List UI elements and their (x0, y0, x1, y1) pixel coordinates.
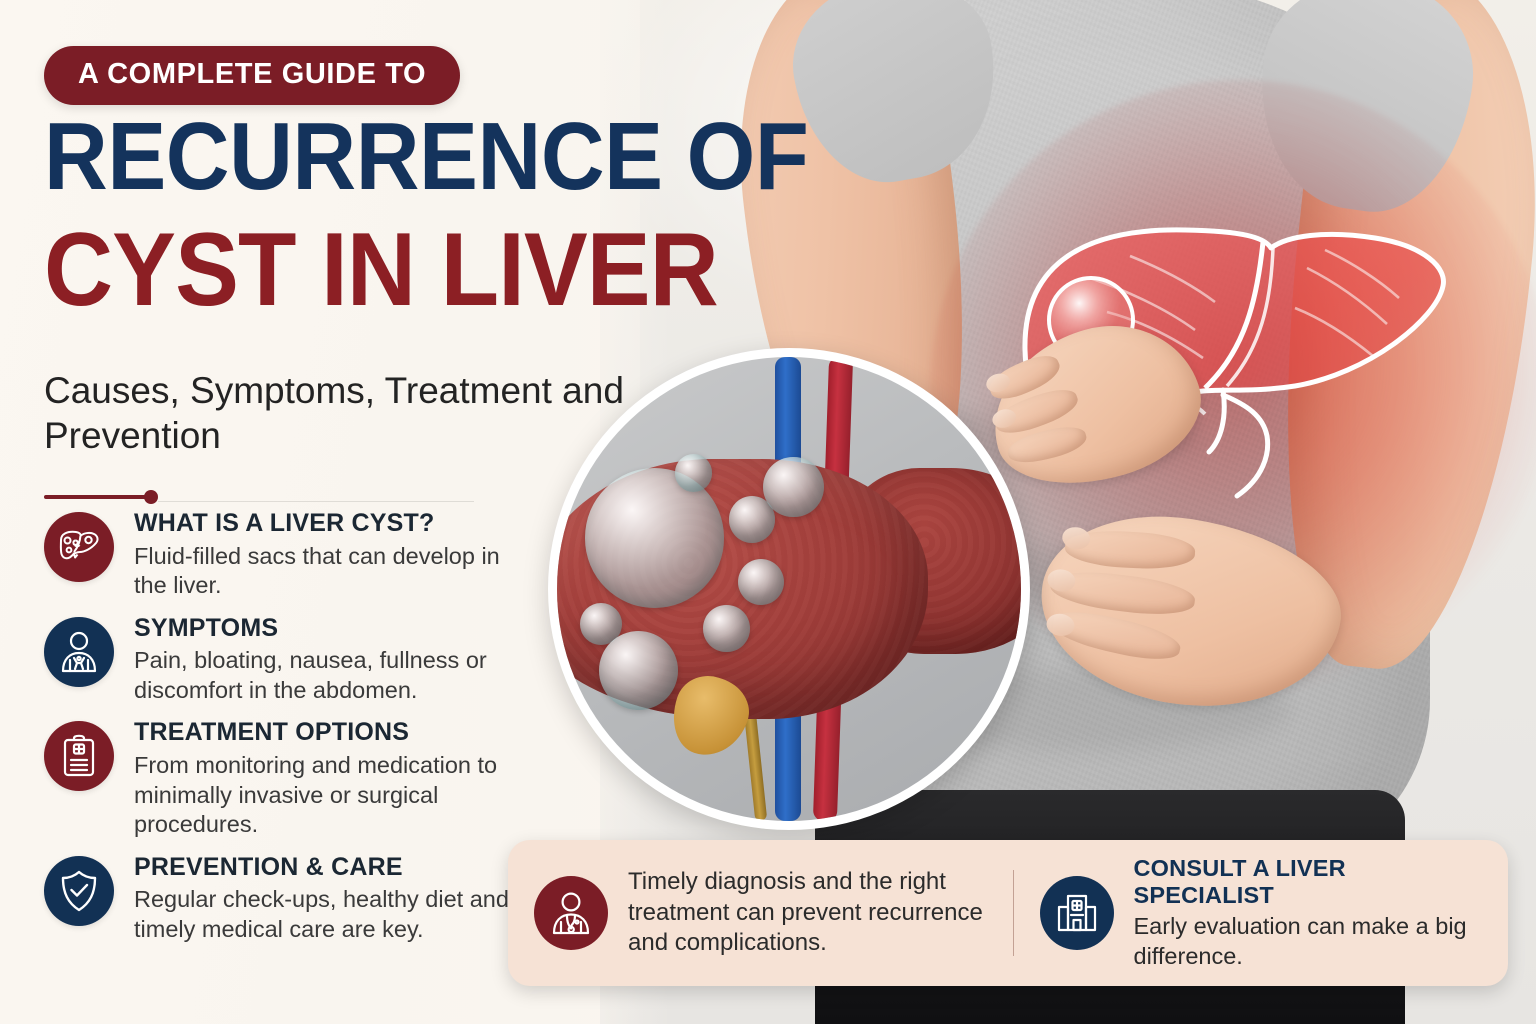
doctor-stethoscope-icon (534, 876, 608, 950)
list-item-title: TREATMENT OPTIONS (134, 719, 514, 747)
banner-left-cell: Timely diagnosis and the right treatment… (508, 867, 1013, 959)
cyst-medium (763, 457, 823, 517)
list-item-text: WHAT IS A LIVER CYST? Fluid-filled sacs … (134, 508, 514, 601)
liver-anatomy-image (557, 357, 1021, 821)
page-subtitle: Causes, Symptoms, Treatment and Preventi… (44, 368, 624, 458)
list-item-desc: Regular check-ups, healthy diet and time… (134, 885, 514, 944)
list-item: TREATMENT OPTIONS From monitoring and me… (44, 717, 514, 839)
page-title-line1: RECURRENCE OF (44, 112, 808, 202)
bottom-banner: Timely diagnosis and the right treatment… (508, 840, 1508, 986)
list-item-title: PREVENTION & CARE (134, 854, 514, 882)
banner-right-text: CONSULT A LIVER SPECIALIST Early evaluat… (1134, 855, 1483, 971)
shield-check-icon (44, 856, 114, 926)
list-item-desc: Pain, bloating, nausea, fullness or disc… (134, 646, 514, 705)
cyst-small (675, 454, 712, 491)
banner-left-text: Timely diagnosis and the right treatment… (628, 867, 987, 959)
list-item: WHAT IS A LIVER CYST? Fluid-filled sacs … (44, 508, 514, 601)
list-item-text: TREATMENT OPTIONS From monitoring and me… (134, 717, 514, 839)
divider-line (44, 495, 148, 499)
eyebrow-badge: A COMPLETE GUIDE TO (44, 46, 460, 105)
banner-right-cell: CONSULT A LIVER SPECIALIST Early evaluat… (1014, 855, 1509, 971)
list-item-desc: Fluid-filled sacs that can develop in th… (134, 542, 514, 601)
list-item-title: WHAT IS A LIVER CYST? (134, 510, 514, 538)
list-item: PREVENTION & CARE Regular check-ups, hea… (44, 852, 514, 945)
medical-clipboard-icon (44, 721, 114, 791)
cyst-medium (599, 631, 678, 710)
page-title-line2: CYST IN LIVER (44, 222, 718, 320)
divider-thin-line (158, 501, 474, 502)
list-item-text: PREVENTION & CARE Regular check-ups, hea… (134, 852, 514, 945)
divider-dot (144, 490, 158, 504)
list-item-title: SYMPTOMS (134, 615, 514, 643)
key-points-list: WHAT IS A LIVER CYST? Fluid-filled sacs … (44, 508, 514, 956)
patient-symptoms-icon (44, 617, 114, 687)
divider (44, 490, 474, 504)
hospital-building-icon (1040, 876, 1114, 950)
list-item-desc: From monitoring and medication to minima… (134, 751, 514, 840)
infographic-canvas: A COMPLETE GUIDE TO RECURRENCE OF CYST I… (0, 0, 1536, 1024)
cyst-small (703, 605, 749, 651)
liver-cyst-icon (44, 512, 114, 582)
list-item: SYMPTOMS Pain, bloating, nausea, fullnes… (44, 613, 514, 706)
banner-right-title: CONSULT A LIVER SPECIALIST (1134, 855, 1483, 909)
banner-right-desc: Early evaluation can make a big differen… (1134, 912, 1483, 971)
list-item-text: SYMPTOMS Pain, bloating, nausea, fullnes… (134, 613, 514, 706)
liver-illustration-circle (548, 348, 1030, 830)
